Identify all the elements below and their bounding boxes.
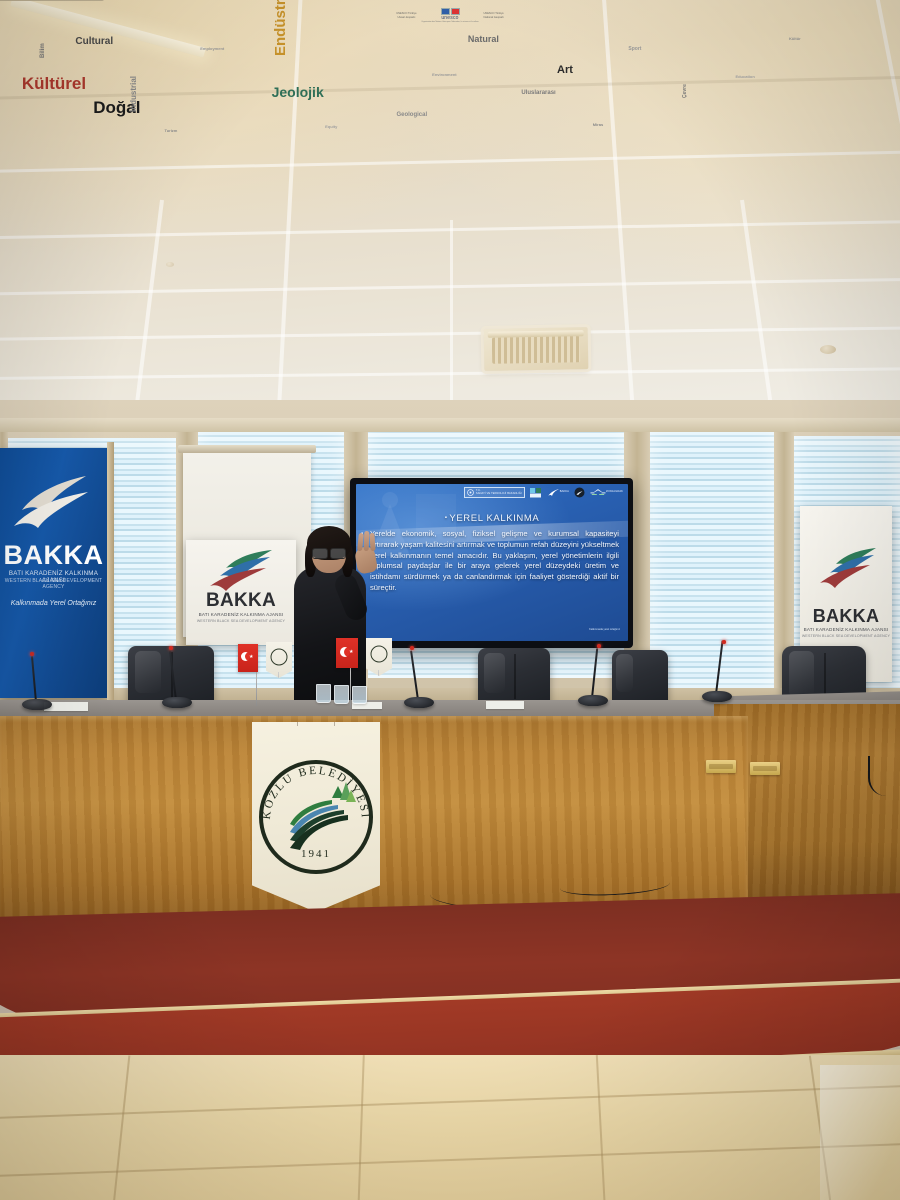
unesco-header: UNESCO Türkiye Ulusal Jeoparkı unesco Or… <box>0 8 900 23</box>
microphone-stem <box>410 650 419 700</box>
slide-logo-row: T.C. SANAYİ VE TEKNOLOJİ BAKANLIĞI BAKKA <box>464 487 623 498</box>
presenter-glasses <box>312 548 346 557</box>
tile-grout-line <box>112 1055 130 1200</box>
microphone-stem <box>715 640 724 694</box>
kozlu-founding-year: 1941 <box>252 848 380 860</box>
slide-title-bullet: ▪ <box>445 515 448 521</box>
unesco-logo: unesco Organisation des Nations Unies po… <box>421 8 478 23</box>
bakka-wordmark: BAKKA <box>800 606 892 627</box>
word-cloud-term: Natural <box>468 34 499 44</box>
window-head-trim <box>0 418 900 432</box>
pennant-emblem <box>371 645 388 662</box>
bakka-subtitle-en: WESTERN BLACK SEA DEVELOPMENT AGENCY <box>0 578 107 590</box>
tile-grout-line <box>357 1055 364 1200</box>
chair-seam <box>514 654 516 699</box>
kozlu-municipality-pennant: KOZLU BELEDİYESİ 1941 <box>252 722 380 912</box>
water-glass <box>334 685 349 704</box>
word-cloud-term: Cultural <box>75 36 113 47</box>
word-cloud-term: Miras <box>593 122 603 127</box>
tile-grout-line <box>0 1084 900 1120</box>
presentation-display: T.C. SANAYİ VE TEKNOLOJİ BAKANLIĞI BAKKA <box>350 478 633 648</box>
floor-reflection <box>820 1065 900 1200</box>
bakka-subtitle-tr: BATI KARADENİZ KALKINMA AJANSI <box>800 627 892 632</box>
word-cloud-term: Education <box>735 74 754 79</box>
ministry-line2: SANAYİ VE TEKNOLOJİ BAKANLIĞI <box>476 493 522 496</box>
unesco-emblem-row <box>421 8 478 15</box>
water-glass <box>316 684 331 703</box>
bakka-subtitle-en: WESTERN BLACK SEA DEVELOPMENT AGENCY <box>800 634 892 638</box>
glasses-lens-left <box>312 548 328 559</box>
slide-body: ▪Yerelde ekonomik, sosyal, fiziksel geli… <box>370 529 619 594</box>
bakka-bird-logo-color <box>186 546 296 592</box>
glasses-lens-right <box>330 548 346 559</box>
ministry-logo-text: T.C. SANAYİ VE TEKNOLOJİ BAKANLIĞI <box>476 490 522 496</box>
microphone-base <box>404 697 434 708</box>
chair-highlight <box>484 653 506 694</box>
bakka-bird-icon <box>547 489 560 497</box>
gooseneck-microphone[interactable] <box>576 644 610 706</box>
word-cloud-term: Jeolojik <box>272 84 324 100</box>
bakka-bird-logo-color <box>800 544 892 602</box>
word-cloud-term: Sport <box>628 46 641 52</box>
microphone-base <box>702 691 732 702</box>
tile-grout-line <box>596 1055 606 1200</box>
turkish-flag-icon <box>451 8 460 15</box>
bakka-white-banner-left: BAKKA BATI KARADENİZ KALKINMA AJANSI WES… <box>186 540 296 645</box>
word-cloud-term: Uluslararası <box>521 90 555 96</box>
nameplate-holder <box>706 760 736 773</box>
unesco-left-line2: Ulusal Jeoparkı <box>395 16 417 19</box>
turkish-flag: ★ <box>336 638 358 668</box>
slide-title-text: YEREL KALKINMA <box>449 513 539 524</box>
word-cloud-term: Industrial <box>129 76 138 112</box>
conference-chair <box>612 650 668 704</box>
nameplate-holder <box>750 762 780 775</box>
tiled-floor <box>0 1055 900 1200</box>
bakka-subtitle-en: WESTERN BLACK SEA DEVELOPMENT AGENCY <box>186 619 296 623</box>
microphone-stem <box>169 650 177 700</box>
conference-chair <box>478 648 550 706</box>
ceiling-sensor <box>166 262 174 267</box>
bakka-tagline: Kalkınmada Yerel Ortağınız <box>0 600 107 607</box>
republic-of-turkey-logo: T.C. SANAYİ VE TEKNOLOJİ BAKANLIĞI <box>464 487 525 498</box>
word-cloud-term: Bilim <box>40 43 46 58</box>
chair-highlight <box>616 654 633 692</box>
word-cloud-term: Equity <box>325 124 337 129</box>
gooseneck-microphone[interactable] <box>700 640 734 702</box>
microphone-base <box>162 697 192 708</box>
projection-screen-roller <box>178 445 316 453</box>
agency-squares-icon <box>530 488 542 498</box>
conference-room-photo: BAKKA BATI KARADENİZ KALKINMA AJANSI WES… <box>0 0 900 1200</box>
unesco-emblem-icon <box>441 8 450 15</box>
presenter-finger <box>364 531 369 551</box>
banner-roller-bar <box>0 0 104 1</box>
word-cloud-term: Kültürel <box>22 74 86 94</box>
bakka-logo-label: BAKKA <box>560 491 569 494</box>
gooseneck-microphone[interactable] <box>20 648 54 710</box>
slide-body-text: Yerelde ekonomik, sosyal, fiziksel geliş… <box>370 529 619 592</box>
unesco-right-line2: National Geopark <box>483 16 505 19</box>
tile-grout-line <box>0 1142 900 1178</box>
chair-highlight <box>789 651 814 697</box>
geopark-mine-icon <box>590 489 606 496</box>
slide-title: ▪YEREL KALKINMA <box>356 513 628 524</box>
bakka-wordmark: BAKKA <box>0 540 107 571</box>
pennant-emblem <box>271 649 288 666</box>
microphone-led <box>597 644 601 648</box>
bakka-wordmark: BAKKA <box>186 590 296 612</box>
microphone-base <box>578 695 608 706</box>
banner-pole <box>107 442 114 704</box>
ac-vent-grille <box>492 336 580 364</box>
word-cloud-term: Endüstriyel <box>272 0 289 56</box>
word-cloud-term: Çevre <box>682 84 688 98</box>
desk-paper <box>486 701 524 709</box>
desk-pennant <box>266 642 292 678</box>
word-cloud-term: Environment <box>432 72 456 77</box>
word-cloud: KültürelDoğalEndüstriyelJeolojikCultural… <box>4 28 896 138</box>
microphone-led <box>722 640 726 644</box>
microphone-led <box>30 652 34 656</box>
slide-footnote: Kalkınmada yerel ortağınız <box>589 628 620 631</box>
bakka-subtitle-tr: BATI KARADENİZ KALKINMA AJANSI <box>186 612 296 617</box>
gooseneck-microphone[interactable] <box>402 646 436 708</box>
gooseneck-microphone[interactable] <box>160 646 194 708</box>
geopark-logo-label: ZONGULDAK <box>606 491 623 494</box>
word-cloud-term: Employment <box>200 46 224 51</box>
word-cloud-term: Art <box>557 64 573 76</box>
ceiling-speaker <box>820 345 836 354</box>
kozlu-belediyesi-logo <box>574 487 585 498</box>
word-cloud-term: Kültür <box>789 36 801 41</box>
water-glass <box>352 686 367 704</box>
unesco-caption-right: UNESCO Türkiye National Geopark <box>483 12 505 18</box>
chair-highlight <box>135 651 161 693</box>
zonguldak-geopark-logo: ZONGULDAK <box>590 489 623 496</box>
kalkinma-ajanslari-logo <box>530 488 542 498</box>
microphone-led <box>410 646 414 650</box>
microphone-stem <box>31 656 37 702</box>
equipment-cable <box>868 756 900 796</box>
municipality-seal-icon <box>574 487 585 498</box>
presentation-slide: T.C. SANAYİ VE TEKNOLOJİ BAKANLIĞI BAKKA <box>356 484 628 641</box>
desk-pennant <box>366 638 392 676</box>
bakka-bird-logo-white <box>0 454 107 544</box>
microphone-base <box>22 699 52 710</box>
bakka-logo: BAKKA <box>547 489 569 497</box>
microphone-stem <box>591 648 598 698</box>
turkish-flag: ★ <box>238 644 258 672</box>
word-cloud-term: Geological <box>396 112 427 118</box>
unesco-caption-left: UNESCO Türkiye Ulusal Jeoparkı <box>395 12 417 18</box>
star-icon: ★ <box>249 655 253 660</box>
air-conditioner-cassette <box>484 327 589 371</box>
unesco-caption: Organisation des Nations Unies pour l'éd… <box>421 21 478 23</box>
ministry-emblem-icon <box>467 489 474 496</box>
word-cloud-term: Turizm <box>165 128 178 133</box>
star-icon: ★ <box>349 650 353 655</box>
microphone-led <box>169 646 173 650</box>
